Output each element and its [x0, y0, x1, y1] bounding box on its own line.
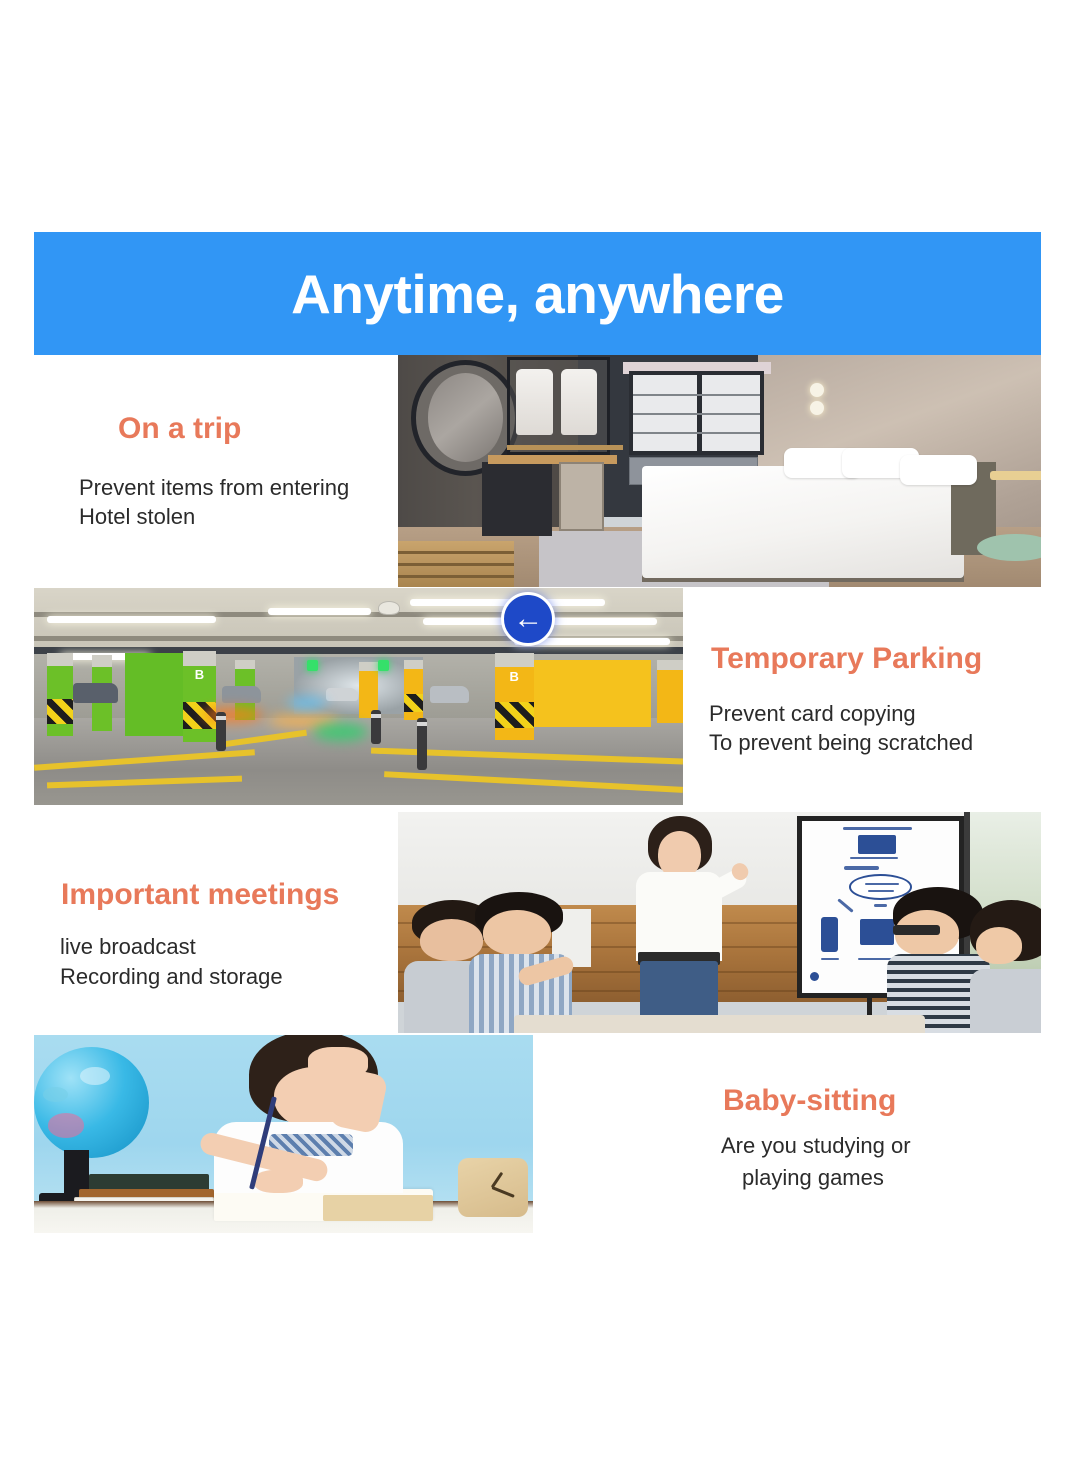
pillow — [900, 455, 977, 485]
wall-sconce-icon — [810, 401, 824, 415]
column-label: B — [183, 667, 215, 682]
important-meetings-line-2: Recording and storage — [60, 962, 283, 991]
open-wardrobe — [507, 357, 610, 454]
wooden-clock-icon — [458, 1158, 528, 1217]
bedside-lamp — [990, 471, 1041, 480]
notebook-page — [323, 1195, 433, 1221]
diagram-laptop-icon — [858, 835, 896, 854]
globe-icon — [34, 1047, 149, 1158]
on-a-trip-heading: On a trip — [118, 412, 241, 445]
on-a-trip-text-block: On a trip Prevent items from entering Ho… — [34, 356, 398, 587]
bollard — [216, 712, 226, 751]
baby-sitting-text-block: Baby-sitting Are you studying or playing… — [683, 1035, 1041, 1233]
left-arrow-icon: ← — [513, 604, 543, 634]
baby-sitting-line-2: playing games — [742, 1163, 884, 1192]
bollard — [371, 710, 381, 745]
baby-sitting-heading: Baby-sitting — [723, 1084, 896, 1117]
presenter-person — [629, 816, 732, 1028]
child-writing-hand — [254, 1170, 304, 1194]
yellow-column — [657, 660, 683, 723]
eyeglasses-icon — [893, 925, 940, 935]
on-a-trip-line-1: Prevent items from entering — [79, 473, 349, 502]
yellow-column — [404, 660, 423, 721]
bathrobe — [516, 369, 553, 435]
brass-rail — [507, 445, 623, 450]
temporary-parking-text-block: Temporary Parking Prevent card copying T… — [683, 588, 1041, 805]
hotel-room-photo — [398, 355, 1041, 587]
child-hand-on-head — [308, 1047, 368, 1079]
conference-table — [514, 1015, 926, 1033]
important-meetings-line-1: live broadcast — [60, 932, 196, 961]
header-banner: Anytime, anywhere — [34, 232, 1041, 355]
attendee-person — [970, 900, 1041, 1033]
security-camera-icon — [378, 601, 400, 615]
bollard — [417, 718, 427, 770]
yellow-column-b: B — [495, 653, 534, 740]
attendee-person — [469, 892, 572, 1033]
banner-title: Anytime, anywhere — [291, 262, 784, 326]
hotel-window — [629, 371, 764, 455]
important-meetings-text-block: Important meetings live broadcast Record… — [34, 812, 398, 1033]
green-column — [47, 653, 73, 735]
column-label: B — [495, 669, 534, 684]
temporary-parking-line-1: Prevent card copying — [709, 699, 916, 728]
diagram-server-icon — [821, 917, 838, 951]
temporary-parking-line-2: To prevent being scratched — [709, 728, 973, 757]
child-studying-photo: SUDOKU — [34, 1035, 533, 1233]
bathrobe — [561, 369, 598, 435]
marketing-page: Anytime, anywhere — [0, 0, 1074, 1465]
meeting-room-photo — [398, 812, 1041, 1033]
yellow-wall-panel — [527, 660, 650, 727]
desk-pedestal — [482, 462, 553, 536]
wooden-bench — [398, 541, 514, 587]
important-meetings-heading: Important meetings — [61, 878, 339, 911]
parking-garage-photo: ← B B — [34, 588, 683, 805]
temporary-parking-heading: Temporary Parking — [711, 642, 982, 675]
wall-sconce-icon — [810, 383, 824, 397]
baby-sitting-line-1: Are you studying or — [721, 1131, 911, 1160]
on-a-trip-line-2: Hotel stolen — [79, 502, 195, 531]
mirror-reflection — [428, 373, 503, 462]
desk-chair — [559, 462, 604, 532]
green-column-b: B — [183, 651, 215, 742]
